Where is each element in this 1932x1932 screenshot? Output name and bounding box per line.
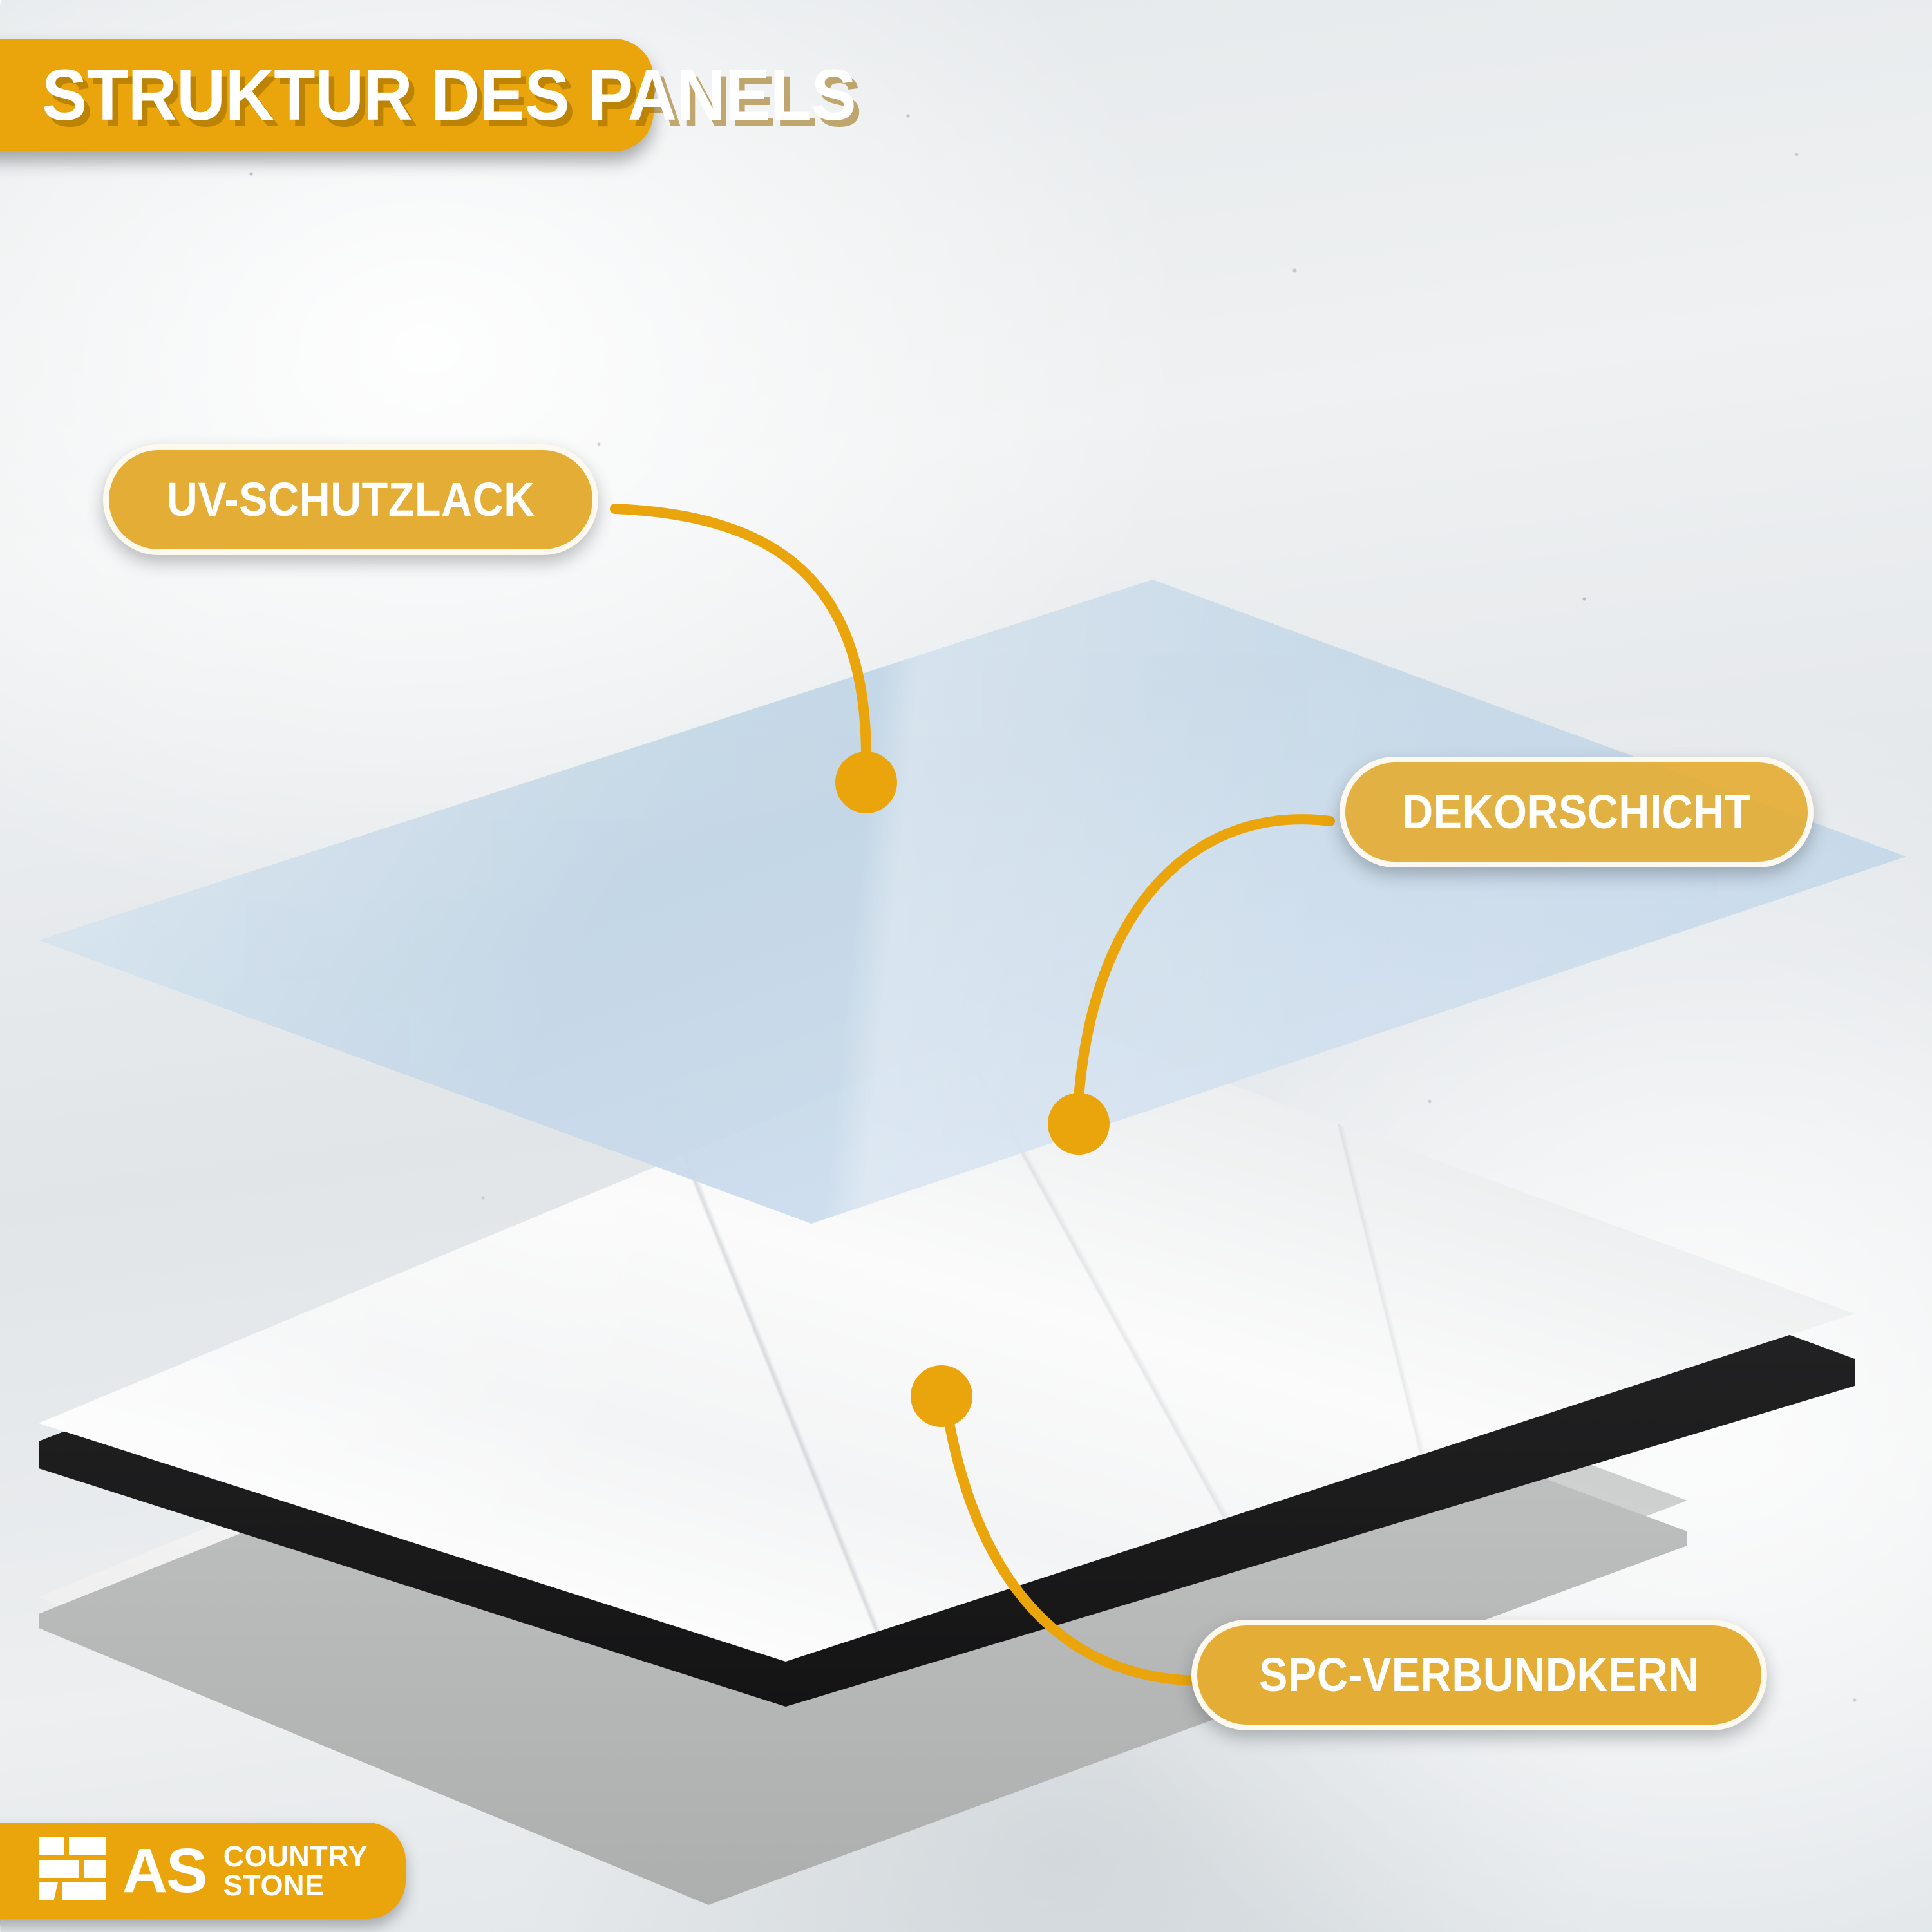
- brick-wall-icon: [39, 1837, 106, 1904]
- logo-wordmark: COUNTRY STONE: [223, 1842, 368, 1900]
- callout-label-spc-verbundkern: SPC-VERBUNDKERN: [1259, 1651, 1700, 1699]
- logo-word-stone: STONE: [223, 1871, 368, 1900]
- logo-initials: AS: [122, 1842, 207, 1899]
- logo-word-country: COUNTRY: [223, 1842, 368, 1871]
- callout-pill-dekorschicht[interactable]: DEKORSCHICHT: [1340, 757, 1814, 867]
- uv-layer-sheet: [39, 580, 1906, 1224]
- callout-label-uv-schutzlack: UV-SCHUTZLACK: [167, 476, 535, 524]
- callout-label-dekorschicht: DEKORSCHICHT: [1402, 788, 1751, 836]
- title-banner: STRUKTUR DES PANELS: [0, 39, 654, 151]
- callout-pill-spc-verbundkern[interactable]: SPC-VERBUNDKERN: [1191, 1620, 1767, 1730]
- callout-pill-uv-schutzlack[interactable]: UV-SCHUTZLACK: [103, 444, 598, 555]
- page-title: STRUKTUR DES PANELS: [42, 59, 856, 131]
- brand-logo-badge[interactable]: AS COUNTRY STONE: [0, 1823, 406, 1919]
